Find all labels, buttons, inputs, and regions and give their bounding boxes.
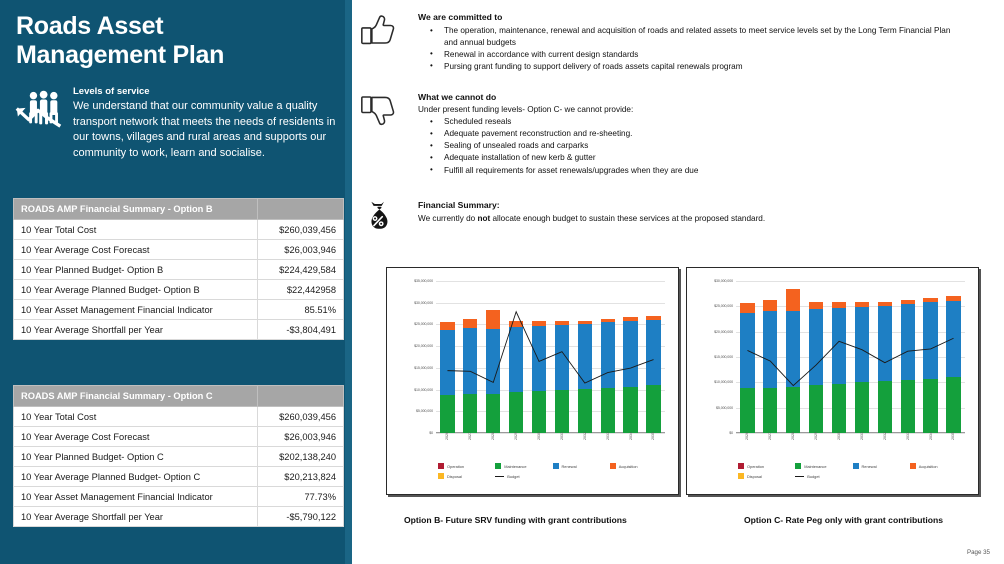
row-value: $260,039,456 (258, 407, 344, 427)
section-financial-body: Financial Summary: We currently do not a… (418, 198, 960, 241)
bar-segment-maintenance (555, 390, 569, 433)
bar-column (923, 281, 937, 433)
table-row: 10 Year Average Cost Forecast$26,003,946 (14, 427, 344, 447)
table-header-row: ROADS AMP Financial Summary - Option C (14, 386, 344, 407)
x-axis-labels: 2026202720282029203020312032203320342035 (436, 435, 665, 461)
fin-text-bold: not (477, 214, 490, 223)
legend-swatch (738, 463, 744, 469)
section-committed-heading: We are committed to (418, 12, 960, 22)
cannot-bullet-list: Scheduled resealsAdequate pavement recon… (418, 116, 960, 176)
table-row: 10 Year Total Cost$260,039,456 (14, 220, 344, 240)
table-header-label: ROADS AMP Financial Summary - Option C (14, 386, 258, 407)
bar-segment-maintenance (486, 394, 500, 433)
section-financial-summary: Financial Summary: We currently do not a… (360, 198, 960, 241)
table-row: 10 Year Average Shortfall per Year-$5,79… (14, 507, 344, 527)
bullet-item: Renewal in accordance with current desig… (418, 49, 960, 61)
page-title: Roads Asset Management Plan (16, 12, 316, 69)
legend-item[interactable]: Maintenance (795, 463, 852, 469)
bullet-item: Sealing of unsealed roads and carparks (418, 140, 960, 152)
legend-label: Renewal (862, 464, 877, 469)
legend-swatch (910, 463, 916, 469)
bar-segment-maintenance (646, 385, 660, 433)
row-value: 85.51% (258, 300, 344, 320)
row-value: $26,003,946 (258, 427, 344, 447)
bullet-item: Adequate pavement reconstruction and re-… (418, 128, 960, 140)
bar-segment-maintenance (923, 379, 937, 433)
legend-item[interactable]: Renewal (553, 463, 610, 469)
legend-label: Budget (807, 474, 819, 479)
legend-label: Operation (447, 464, 464, 469)
levels-of-service-body: We understand that our community value a… (73, 99, 344, 161)
y-axis-tick-label: $10,000,000 (714, 380, 733, 384)
x-axis-tick-label: 2032 (878, 435, 892, 461)
bar-segment-maintenance (946, 377, 960, 433)
x-axis-tick-label: 2026 (740, 435, 754, 461)
row-label: 10 Year Average Shortfall per Year (14, 320, 258, 340)
section-financial-heading: Financial Summary: (418, 200, 960, 210)
x-axis-tick-label: 2028 (786, 435, 800, 461)
legend-item[interactable]: Budget (795, 473, 852, 479)
legend-label: Operation (747, 464, 764, 469)
bar-segment-renewal (946, 301, 960, 376)
bar-segment-renewal (763, 311, 777, 388)
x-axis-tick-label: 2030 (532, 435, 546, 461)
section-committed-body: We are committed to The operation, maint… (418, 12, 960, 73)
y-axis-tick-label: $30,000,000 (714, 279, 733, 283)
y-axis-tick-label: $15,000,000 (414, 366, 433, 370)
bar-segment-renewal (855, 307, 869, 382)
legend-line-swatch (495, 476, 504, 477)
bar-segment-renewal (740, 313, 754, 388)
x-axis-tick-label: 2035 (646, 435, 660, 461)
y-axis-tick-label: $20,000,000 (714, 330, 733, 334)
table-row: 10 Year Asset Management Financial Indic… (14, 300, 344, 320)
thumbs-down-icon (360, 92, 408, 177)
row-value: $26,003,946 (258, 240, 344, 260)
bar-segment-acquisition (809, 302, 823, 310)
row-label: 10 Year Average Cost Forecast (14, 427, 258, 447)
bar-column (646, 281, 660, 433)
bar-segment-acquisition (440, 322, 454, 330)
legend-swatch (438, 463, 444, 469)
legend-item[interactable]: Operation (738, 463, 795, 469)
legend-label: Maintenance (804, 464, 826, 469)
table-header-label: ROADS AMP Financial Summary - Option B (14, 199, 258, 220)
bar-segment-maintenance (855, 382, 869, 433)
bar-segment-renewal (509, 327, 523, 392)
financial-summary-table-option-b: ROADS AMP Financial Summary - Option B 1… (13, 198, 344, 340)
page-number: Page 35 (967, 549, 990, 556)
legend-label: Acquisition (919, 464, 938, 469)
legend-item[interactable]: Acquisition (610, 463, 667, 469)
bullet-item: Adequate installation of new kerb & gutt… (418, 152, 960, 164)
table-row: 10 Year Total Cost$260,039,456 (14, 407, 344, 427)
legend-swatch (495, 463, 501, 469)
legend-swatch (438, 473, 444, 479)
bar-column (601, 281, 615, 433)
bar-segment-renewal (923, 302, 937, 379)
bar-segment-maintenance (532, 391, 546, 433)
bar-column (832, 281, 846, 433)
y-axis-tick-label: $35,000,000 (414, 279, 433, 283)
table-row: 10 Year Planned Budget- Option B$224,429… (14, 260, 344, 280)
plot-area: $0$5,000,000$10,000,000$15,000,000$20,00… (736, 281, 965, 433)
bar-segment-acquisition (763, 300, 777, 311)
bar-column (463, 281, 477, 433)
x-axis-tick-label: 2028 (486, 435, 500, 461)
x-axis-tick-label: 2031 (555, 435, 569, 461)
left-brand-panel: Roads Asset Management Plan (0, 0, 352, 564)
bar-segment-renewal (440, 330, 454, 395)
table-row: 10 Year Average Planned Budget- Option C… (14, 467, 344, 487)
financial-summary-table-option-c: ROADS AMP Financial Summary - Option C 1… (13, 385, 344, 527)
bar-segment-maintenance (740, 388, 754, 433)
row-value: $22,442958 (258, 280, 344, 300)
plot-area: $0$5,000,000$10,000,000$15,000,000$20,00… (436, 281, 665, 433)
row-label: 10 Year Average Planned Budget- Option C (14, 467, 258, 487)
chart-caption-option-c: Option C- Rate Peg only with grant contr… (744, 515, 943, 525)
bar-segment-renewal (646, 320, 660, 385)
row-label: 10 Year Average Cost Forecast (14, 240, 258, 260)
slide-root: Roads Asset Management Plan (0, 0, 1004, 564)
section-financial-text: We currently do not allocate enough budg… (418, 213, 960, 224)
table-row: 10 Year Average Shortfall per Year-$3,80… (14, 320, 344, 340)
y-axis-tick-label: $5,000,000 (716, 406, 733, 410)
x-axis-tick-label: 2026 (440, 435, 454, 461)
bar-column (809, 281, 823, 433)
levels-of-service-block: Levels of service We understand that our… (14, 86, 344, 161)
bar-column (855, 281, 869, 433)
bar-segment-maintenance (578, 389, 592, 434)
section-cannot-intro: Under present funding levels- Option C- … (418, 105, 960, 114)
y-axis-tick-label: $10,000,000 (414, 388, 433, 392)
bar-column (878, 281, 892, 433)
legend-item[interactable]: Disposal (738, 473, 795, 479)
section-cannot-do: What we cannot do Under present funding … (360, 92, 960, 177)
row-label: 10 Year Total Cost (14, 407, 258, 427)
table-row: 10 Year Average Cost Forecast$26,003,946 (14, 240, 344, 260)
bullet-item: The operation, maintenance, renewal and … (418, 25, 960, 48)
legend-item[interactable]: Acquisition (910, 463, 967, 469)
bar-column (509, 281, 523, 433)
bar-segment-acquisition (463, 319, 477, 328)
x-axis-tick-label: 2027 (463, 435, 477, 461)
x-axis-tick-label: 2027 (763, 435, 777, 461)
bar-segment-renewal (463, 328, 477, 394)
bar-segment-renewal (532, 326, 546, 391)
bar-segment-acquisition (486, 310, 500, 329)
bar-column (786, 281, 800, 433)
x-axis-tick-label: 2030 (832, 435, 846, 461)
table-header-value (258, 386, 344, 407)
bar-column (740, 281, 754, 433)
legend-label: Budget (507, 474, 519, 479)
table-header-row: ROADS AMP Financial Summary - Option B (14, 199, 344, 220)
bullet-item: Pursing grant funding to support deliver… (418, 61, 960, 73)
legend-label: Disposal (447, 474, 462, 479)
table-header-value (258, 199, 344, 220)
table-row: 10 Year Planned Budget- Option C$202,138… (14, 447, 344, 467)
section-committed-to: We are committed to The operation, maint… (360, 12, 960, 73)
x-axis-tick-label: 2029 (809, 435, 823, 461)
committed-bullet-list: The operation, maintenance, renewal and … (418, 25, 960, 73)
legend-item[interactable]: Maintenance (495, 463, 552, 469)
x-axis-tick-label: 2033 (601, 435, 615, 461)
x-axis-tick-label: 2033 (901, 435, 915, 461)
row-label: 10 Year Asset Management Financial Indic… (14, 487, 258, 507)
bar-column (440, 281, 454, 433)
y-axis-tick-label: $25,000,000 (414, 322, 433, 326)
bar-segment-renewal (809, 309, 823, 385)
section-cannot-body: What we cannot do Under present funding … (418, 92, 960, 177)
legend-swatch (610, 463, 616, 469)
bar-segment-renewal (555, 325, 569, 390)
legend-label: Disposal (747, 474, 762, 479)
bar-segment-maintenance (623, 387, 637, 433)
bar-segment-maintenance (878, 381, 892, 433)
x-axis-tick-label: 2034 (623, 435, 637, 461)
chart-option-c: $0$5,000,000$10,000,000$15,000,000$20,00… (686, 267, 979, 495)
row-value: $20,213,824 (258, 467, 344, 487)
row-label: 10 Year Planned Budget- Option B (14, 260, 258, 280)
row-label: 10 Year Planned Budget- Option C (14, 447, 258, 467)
bar-segment-renewal (901, 304, 915, 381)
y-axis-tick-label: $25,000,000 (714, 304, 733, 308)
x-axis-tick-label: 2032 (578, 435, 592, 461)
legend-item[interactable]: Operation (438, 463, 495, 469)
legend-swatch (853, 463, 859, 469)
chart-legend: OperationMaintenanceRenewalAcquisitionDi… (738, 463, 967, 483)
bar-segment-renewal (786, 311, 800, 387)
thumbs-up-icon (360, 12, 408, 73)
legend-swatch (553, 463, 559, 469)
levels-of-service-heading: Levels of service (73, 86, 344, 97)
bar-segment-maintenance (809, 385, 823, 433)
bar-segment-maintenance (601, 388, 615, 433)
bullet-item: Fulfill all requirements for asset renew… (418, 165, 960, 177)
bar-column (763, 281, 777, 433)
legend-label: Maintenance (504, 464, 526, 469)
bar-segment-renewal (601, 322, 615, 388)
legend-label: Acquisition (619, 464, 638, 469)
panel-edge-strip (345, 0, 352, 564)
bar-segment-maintenance (786, 387, 800, 433)
bar-group (736, 281, 965, 433)
row-value: -$3,804,491 (258, 320, 344, 340)
bar-column (901, 281, 915, 433)
bar-segment-acquisition (786, 289, 800, 311)
table-row: 10 Year Asset Management Financial Indic… (14, 487, 344, 507)
legend-swatch (795, 463, 801, 469)
bar-segment-acquisition (740, 303, 754, 313)
legend-item[interactable]: Renewal (853, 463, 910, 469)
row-label: 10 Year Average Shortfall per Year (14, 507, 258, 527)
row-value: 77.73% (258, 487, 344, 507)
x-axis-tick-label: 2029 (509, 435, 523, 461)
bar-segment-maintenance (440, 395, 454, 433)
bullet-item: Scheduled reseals (418, 116, 960, 128)
bar-segment-renewal (578, 324, 592, 388)
bar-segment-maintenance (463, 394, 477, 433)
x-axis-labels: 2026202720282029203020312032203320342035 (736, 435, 965, 461)
y-axis-tick-label: $0 (729, 431, 733, 435)
row-label: 10 Year Total Cost (14, 220, 258, 240)
bar-column (555, 281, 569, 433)
bar-segment-renewal (878, 306, 892, 381)
bar-column (623, 281, 637, 433)
y-axis-tick-label: $20,000,000 (414, 344, 433, 348)
y-axis-tick-label: $15,000,000 (714, 355, 733, 359)
bar-segment-maintenance (763, 388, 777, 433)
bar-segment-acquisition (832, 302, 846, 309)
bar-segment-renewal (623, 321, 637, 387)
bar-column (532, 281, 546, 433)
row-value: -$5,790,122 (258, 507, 344, 527)
chart-option-b: $0$5,000,000$10,000,000$15,000,000$20,00… (386, 267, 679, 495)
y-axis-tick-label: $5,000,000 (416, 409, 433, 413)
row-label: 10 Year Average Planned Budget- Option B (14, 280, 258, 300)
bar-column (946, 281, 960, 433)
bar-column (486, 281, 500, 433)
levels-of-service-text: Levels of service We understand that our… (73, 86, 344, 161)
section-cannot-heading: What we cannot do (418, 92, 960, 102)
fin-text-before: We currently do (418, 214, 477, 223)
row-label: 10 Year Asset Management Financial Indic… (14, 300, 258, 320)
bar-segment-renewal (832, 308, 846, 383)
bar-segment-maintenance (901, 380, 915, 433)
bar-column (578, 281, 592, 433)
money-bag-percent-icon (360, 198, 408, 241)
bar-group (436, 281, 665, 433)
fin-text-after: allocate enough budget to sustain these … (490, 214, 765, 223)
y-axis-tick-label: $30,000,000 (414, 301, 433, 305)
legend-label: Renewal (562, 464, 577, 469)
y-axis-tick-label: $0 (429, 431, 433, 435)
row-value: $260,039,456 (258, 220, 344, 240)
bar-segment-renewal (486, 329, 500, 394)
table-row: 10 Year Average Planned Budget- Option B… (14, 280, 344, 300)
x-axis-tick-label: 2034 (923, 435, 937, 461)
chart-legend: OperationMaintenanceRenewalAcquisitionDi… (438, 463, 667, 483)
legend-swatch (738, 473, 744, 479)
legend-item[interactable]: Budget (495, 473, 552, 479)
x-axis-tick-label: 2035 (946, 435, 960, 461)
chart-caption-option-b: Option B- Future SRV funding with grant … (404, 515, 627, 525)
row-value: $224,429,584 (258, 260, 344, 280)
bar-segment-maintenance (509, 392, 523, 433)
legend-line-swatch (795, 476, 804, 477)
x-axis-tick-label: 2031 (855, 435, 869, 461)
legend-item[interactable]: Disposal (438, 473, 495, 479)
row-value: $202,138,240 (258, 447, 344, 467)
bar-segment-maintenance (832, 384, 846, 433)
people-trend-icon (14, 86, 64, 161)
